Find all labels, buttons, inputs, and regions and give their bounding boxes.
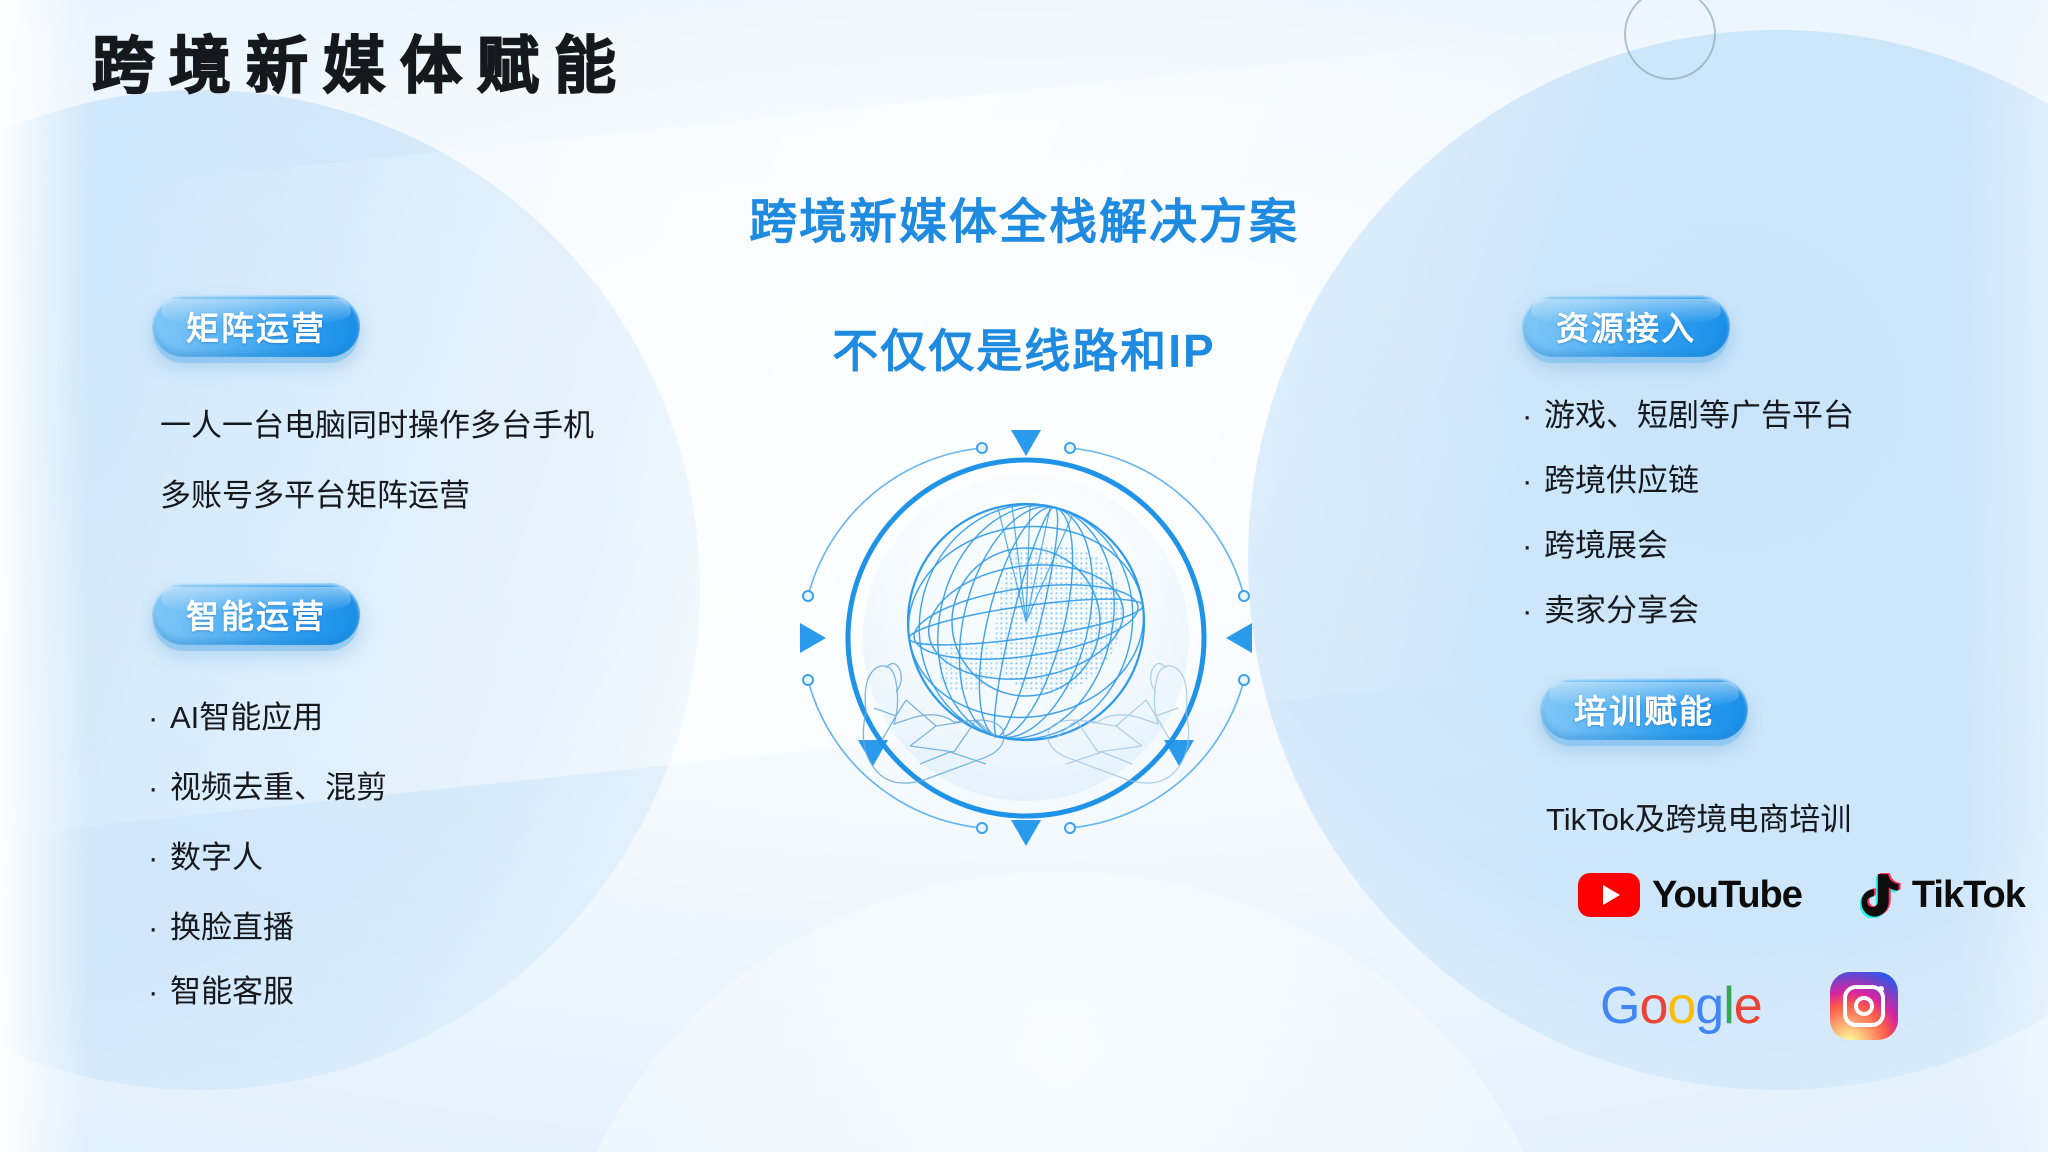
bullet-text: 卖家分享会 xyxy=(1544,593,1699,628)
google-letter-e: e xyxy=(1734,976,1762,1036)
right-bullet-4: ·卖家分享会 xyxy=(1522,585,1699,630)
right-text-line-1: TikTok及跨境电商培训 xyxy=(1546,794,1851,839)
left-bullet-3: ·数字人 xyxy=(148,832,263,877)
globe-graphic xyxy=(800,412,1252,864)
left-text-line-2: 多账号多平台矩阵运营 xyxy=(160,470,470,515)
right-bullet-3: ·跨境展会 xyxy=(1522,520,1668,565)
bullet-text: 跨境展会 xyxy=(1544,528,1668,563)
google-letter-o2: o xyxy=(1667,976,1695,1036)
badge-training-empowerment[interactable]: 培训赋能 xyxy=(1540,678,1748,740)
badge-label: 矩阵运营 xyxy=(186,302,326,350)
badge-resource-access[interactable]: 资源接入 xyxy=(1522,295,1730,357)
logo-row-top: YouTube TikTok xyxy=(1578,872,2025,918)
badge-label: 智能运营 xyxy=(186,590,326,638)
instagram-flash-dot xyxy=(1878,986,1884,992)
bullet-marker: · xyxy=(1522,398,1544,434)
tiktok-logo[interactable]: TikTok xyxy=(1860,872,2025,918)
bullet-marker: · xyxy=(148,910,170,946)
left-bullet-1: ·AI智能应用 xyxy=(148,692,323,737)
badge-smart-operations[interactable]: 智能运营 xyxy=(152,583,360,645)
instagram-logo[interactable] xyxy=(1830,972,1898,1040)
edge-fade-left xyxy=(0,0,90,1152)
center-heading: 跨境新媒体全栈解决方案 xyxy=(644,182,1404,252)
bullet-marker: · xyxy=(1522,593,1544,629)
bullet-marker: · xyxy=(148,974,170,1010)
google-logo[interactable]: Google xyxy=(1600,976,1762,1036)
bullet-marker: · xyxy=(1522,528,1544,564)
left-bullet-4: ·换脸直播 xyxy=(148,902,294,947)
bullet-text: 游戏、短剧等广告平台 xyxy=(1544,398,1854,433)
youtube-logo[interactable]: YouTube xyxy=(1578,873,1802,917)
bullet-marker: · xyxy=(148,770,170,806)
right-bullet-2: ·跨境供应链 xyxy=(1522,455,1699,500)
left-text-line-1: 一人一台电脑同时操作多台手机 xyxy=(160,400,594,445)
bullet-text: 视频去重、混剪 xyxy=(170,770,387,805)
badge-matrix-operations[interactable]: 矩阵运营 xyxy=(152,295,360,357)
google-letter-l: l xyxy=(1723,976,1734,1036)
left-bullet-2: ·视频去重、混剪 xyxy=(148,762,387,807)
google-letter-g: G xyxy=(1600,976,1639,1036)
bullet-marker: · xyxy=(1522,463,1544,499)
tiktok-label: TikTok xyxy=(1912,874,2025,917)
edge-fade-right xyxy=(1958,0,2048,1152)
tiktok-note-icon xyxy=(1860,872,1902,918)
center-subheading: 不仅仅是线路和IP xyxy=(644,315,1404,381)
youtube-play-icon xyxy=(1578,873,1640,917)
logo-row-bottom: Google xyxy=(1600,972,1898,1040)
bullet-text: 数字人 xyxy=(170,840,263,875)
bullet-text: 智能客服 xyxy=(170,974,294,1009)
badge-label: 资源接入 xyxy=(1556,302,1696,350)
bullet-text: AI智能应用 xyxy=(170,700,323,735)
right-bullet-1: ·游戏、短剧等广告平台 xyxy=(1522,390,1854,435)
google-letter-g2: g xyxy=(1695,976,1723,1036)
bullet-text: 换脸直播 xyxy=(170,910,294,945)
page-title: 跨境新媒体赋能 xyxy=(92,36,631,98)
badge-label: 培训赋能 xyxy=(1574,685,1714,733)
bullet-marker: · xyxy=(148,700,170,736)
bullet-marker: · xyxy=(148,840,170,876)
bullet-text: 跨境供应链 xyxy=(1544,463,1699,498)
youtube-label: YouTube xyxy=(1652,874,1802,917)
google-letter-o1: o xyxy=(1639,976,1667,1036)
left-bullet-5: ·智能客服 xyxy=(148,966,294,1011)
